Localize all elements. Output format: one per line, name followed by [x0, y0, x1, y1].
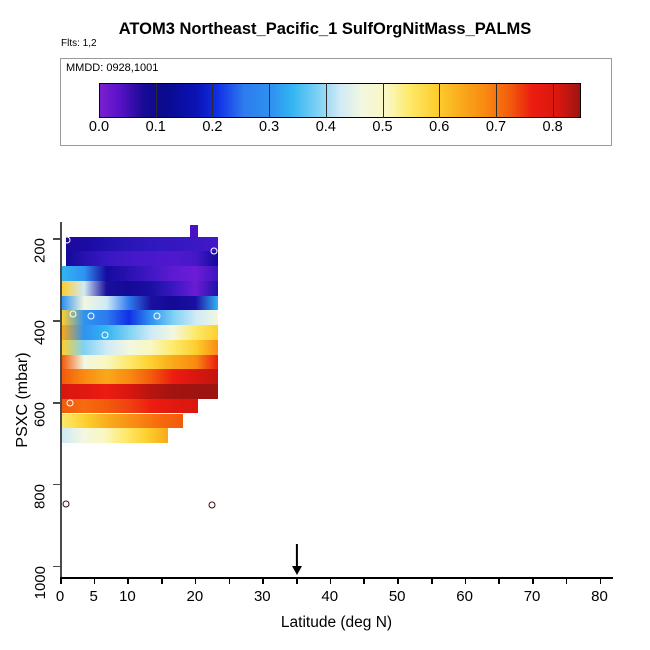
colorbar-divider — [326, 83, 327, 118]
heatmap-row — [62, 310, 218, 325]
x-tick-label: 30 — [254, 588, 271, 605]
colorbar-divider — [269, 83, 270, 118]
x-tick-label: 0 — [56, 588, 64, 605]
colorbar-divider — [439, 83, 440, 118]
heatmap-row — [62, 340, 218, 355]
colorbar-tick-label: 0.5 — [372, 119, 392, 135]
x-tick — [397, 577, 399, 584]
sample-marker — [209, 501, 216, 508]
heatmap-row — [62, 384, 218, 399]
heatmap-row — [66, 237, 218, 252]
x-tick — [600, 577, 602, 584]
y-tick — [53, 320, 60, 322]
colorbar-divider — [553, 83, 554, 118]
heatmap-row — [62, 281, 218, 295]
page-title: ATOM3 Northeast_Pacific_1 SulfOrgNitMass… — [0, 20, 650, 39]
x-tick-label: 70 — [524, 588, 541, 605]
y-tick — [53, 238, 60, 240]
heatmap-row — [66, 251, 218, 266]
heatmap-row — [62, 355, 218, 370]
heatmap-row — [62, 266, 218, 281]
arrow-shaft — [295, 544, 297, 568]
sample-marker — [63, 237, 70, 244]
colorbar-tick-label: 0.6 — [429, 119, 449, 135]
y-axis-title-text: PSXC (mbar) — [14, 352, 32, 447]
x-tick — [127, 577, 129, 584]
colorbar-tick-label: 0.1 — [146, 119, 166, 135]
x-tick-label: 10 — [119, 588, 136, 605]
sample-marker — [63, 500, 70, 507]
y-tick-label: 400 — [32, 320, 49, 345]
x-tick — [161, 577, 163, 584]
x-tick — [262, 577, 264, 584]
latitude-marker-arrow — [296, 544, 297, 578]
sample-marker — [64, 560, 71, 567]
colorbar-divider — [156, 83, 157, 118]
y-tick-label: 600 — [32, 402, 49, 427]
colorbar-gradient[interactable] — [99, 83, 581, 118]
mmdd-label: MMDD: 0928,1001 — [66, 62, 158, 74]
x-axis-title: Latitude (deg N) — [60, 614, 613, 632]
colorbar-divider — [496, 83, 497, 118]
x-tick — [60, 577, 62, 584]
colorbar-tick-label: 0.7 — [486, 119, 506, 135]
x-tick — [363, 577, 365, 584]
x-tick-label: 60 — [456, 588, 473, 605]
x-axis-line — [60, 577, 613, 579]
y-tick — [53, 484, 60, 486]
x-tick — [229, 577, 231, 584]
x-tick — [465, 577, 467, 584]
colorbar-divider — [212, 83, 213, 118]
y-tick-label: 800 — [32, 484, 49, 509]
sample-marker — [70, 311, 77, 318]
x-tick-label: 80 — [591, 588, 608, 605]
y-axis-line — [60, 222, 62, 578]
sample-marker — [154, 312, 161, 319]
y-tick — [53, 566, 60, 568]
sample-marker — [101, 332, 108, 339]
x-tick-label: 50 — [389, 588, 406, 605]
colorbar-tick-label: 0.0 — [89, 119, 109, 135]
x-tick-label: 40 — [321, 588, 338, 605]
arrow-head — [292, 566, 302, 575]
heatmap-row — [62, 325, 218, 340]
x-tick — [94, 577, 96, 584]
heatmap-row — [62, 399, 198, 414]
y-tick-label: 200 — [32, 238, 49, 263]
x-tick-label: 5 — [90, 588, 98, 605]
colorbar-tick-label: 0.2 — [202, 119, 222, 135]
y-tick — [53, 402, 60, 404]
heatmap-row — [62, 369, 218, 384]
heatmap-row — [62, 428, 168, 443]
chart-root: ATOM3 Northeast_Pacific_1 SulfOrgNitMass… — [0, 0, 650, 650]
sample-marker — [67, 400, 74, 407]
colorbar-tick-label: 0.8 — [543, 119, 563, 135]
x-tick — [330, 577, 332, 584]
heatmap-field[interactable] — [60, 222, 613, 578]
sample-marker — [157, 561, 164, 568]
x-tick-label: 20 — [187, 588, 204, 605]
sample-marker — [211, 248, 218, 255]
colorbar-tick-labels: 0.00.10.20.30.40.50.60.70.8 — [99, 119, 581, 139]
sample-marker — [88, 312, 95, 319]
colorbar-tick-label: 0.3 — [259, 119, 279, 135]
x-tick — [532, 577, 534, 584]
colorbar-legend-box: MMDD: 0928,1001 0.00.10.20.30.40.50.60.7… — [60, 58, 612, 146]
colorbar-wrap — [99, 83, 581, 118]
colorbar-divider — [383, 83, 384, 118]
heatmap-row — [190, 225, 197, 236]
plot-area[interactable]: 2004006008001000 051020304050607080 Lati… — [60, 222, 613, 578]
y-axis-title: PSXC (mbar) — [12, 222, 34, 578]
heatmap-row — [62, 296, 218, 311]
colorbar-tick-label: 0.4 — [316, 119, 336, 135]
x-tick — [566, 577, 568, 584]
flights-label: Flts: 1,2 — [61, 38, 97, 49]
heatmap-row — [62, 414, 183, 429]
y-tick-label: 1000 — [32, 566, 49, 599]
x-tick — [498, 577, 500, 584]
x-tick — [296, 577, 298, 584]
x-tick — [431, 577, 433, 584]
x-tick — [195, 577, 197, 584]
